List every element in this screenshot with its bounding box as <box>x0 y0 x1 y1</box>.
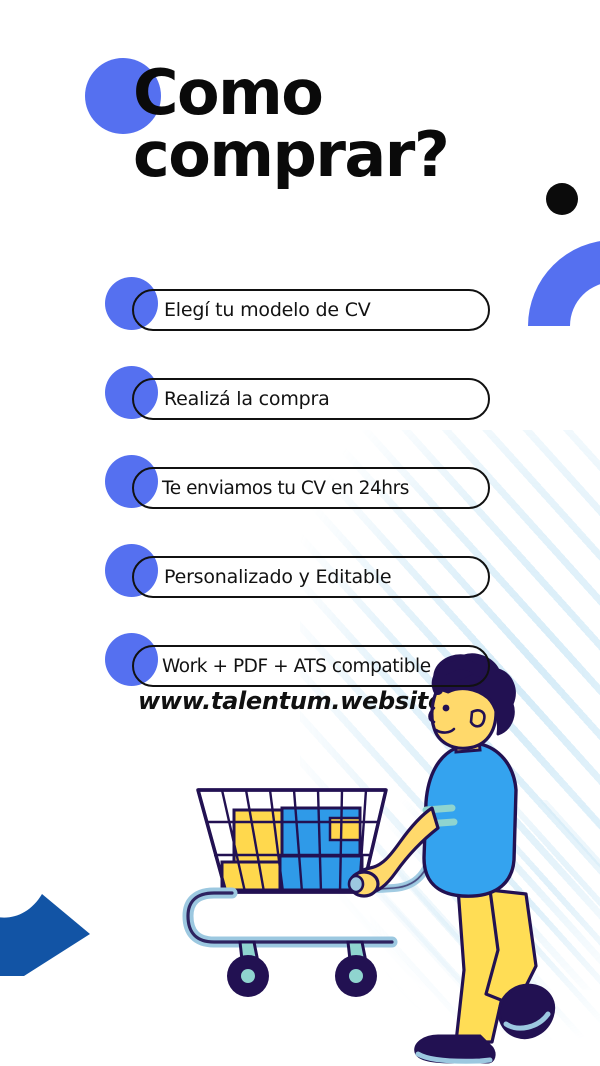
page-title-line-1: Como <box>133 62 563 124</box>
step-pill[interactable]: Work + PDF + ATS compatible <box>132 645 490 687</box>
poster-canvas: Como comprar? Elegí tu modelo de CV Real… <box>0 0 600 1066</box>
list-item[interactable]: Te enviamos tu CV en 24hrs <box>0 455 600 512</box>
step-label: Te enviamos tu CV en 24hrs <box>134 478 409 499</box>
step-label: Realizá la compra <box>134 388 330 410</box>
step-pill[interactable]: Realizá la compra <box>132 378 490 420</box>
list-item[interactable]: Elegí tu modelo de CV <box>0 277 600 334</box>
step-label: Personalizado y Editable <box>134 566 391 588</box>
list-item[interactable]: Personalizado y Editable <box>0 544 600 601</box>
list-item[interactable]: Realizá la compra <box>0 366 600 423</box>
step-pill[interactable]: Elegí tu modelo de CV <box>132 289 490 331</box>
blue-crescent-icon <box>0 872 94 982</box>
shopping-cart <box>188 790 450 997</box>
step-label: Work + PDF + ATS compatible <box>134 656 431 677</box>
page-title: Como comprar? <box>133 62 563 186</box>
page-title-line-2: comprar? <box>133 124 563 186</box>
step-label: Elegí tu modelo de CV <box>134 299 371 321</box>
step-pill[interactable]: Te enviamos tu CV en 24hrs <box>132 467 490 509</box>
step-pill[interactable]: Personalizado y Editable <box>132 556 490 598</box>
person-figure <box>349 655 554 1062</box>
person-pushing-shopping-cart-illustration <box>180 650 600 1066</box>
